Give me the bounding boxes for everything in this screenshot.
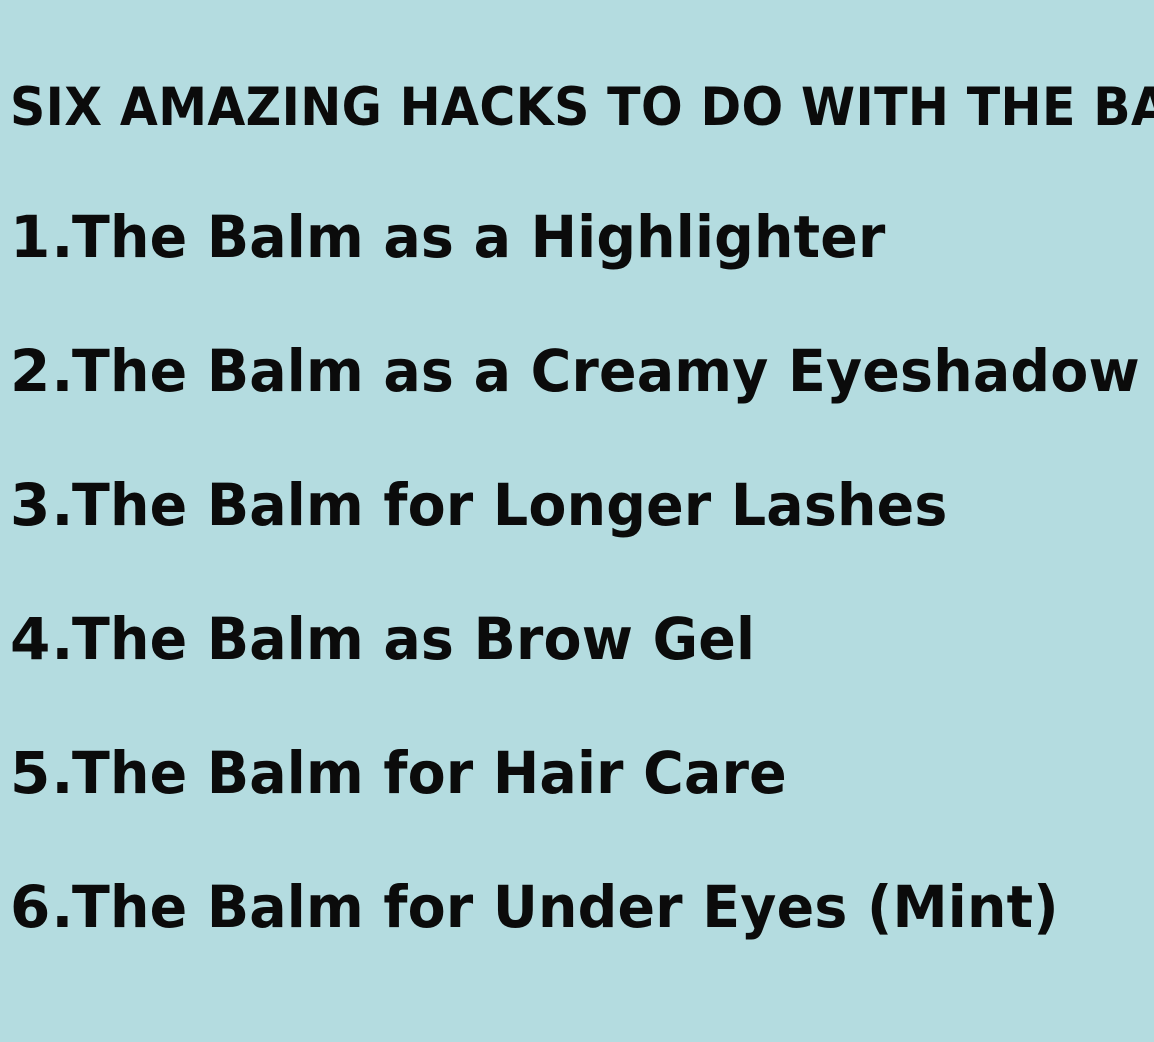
- list-item-label: The Balm as a Highlighter: [72, 204, 886, 270]
- page-title: SIX AMAZING HACKS TO DO WITH THE BALM:: [10, 80, 1059, 136]
- list-item: 5. The Balm for Hair Care: [0, 740, 1154, 874]
- list-item-label: The Balm as Brow Gel: [72, 606, 755, 672]
- list-item: 2. The Balm as a Creamy Eyeshadow: [0, 338, 1154, 472]
- poster-canvas: SIX AMAZING HACKS TO DO WITH THE BALM: 1…: [0, 0, 1154, 1042]
- list-item-label: The Balm as a Creamy Eyeshadow: [72, 338, 1140, 404]
- hacks-list: 1. The Balm as a Highlighter 2. The Balm…: [0, 204, 1154, 1008]
- list-item-number: 1.: [0, 204, 72, 270]
- list-item-label: The Balm for Hair Care: [72, 740, 787, 806]
- list-item: 3. The Balm for Longer Lashes: [0, 472, 1154, 606]
- list-item-number: 4.: [0, 606, 72, 672]
- list-item-label: The Balm for Under Eyes (Mint): [72, 874, 1059, 940]
- list-item: 6. The Balm for Under Eyes (Mint): [0, 874, 1154, 1008]
- list-item-number: 3.: [0, 472, 72, 538]
- list-item: 1. The Balm as a Highlighter: [0, 204, 1154, 338]
- list-item-number: 6.: [0, 874, 72, 940]
- list-item-label: The Balm for Longer Lashes: [72, 472, 948, 538]
- list-item-number: 5.: [0, 740, 72, 806]
- list-item: 4. The Balm as Brow Gel: [0, 606, 1154, 740]
- list-item-number: 2.: [0, 338, 72, 404]
